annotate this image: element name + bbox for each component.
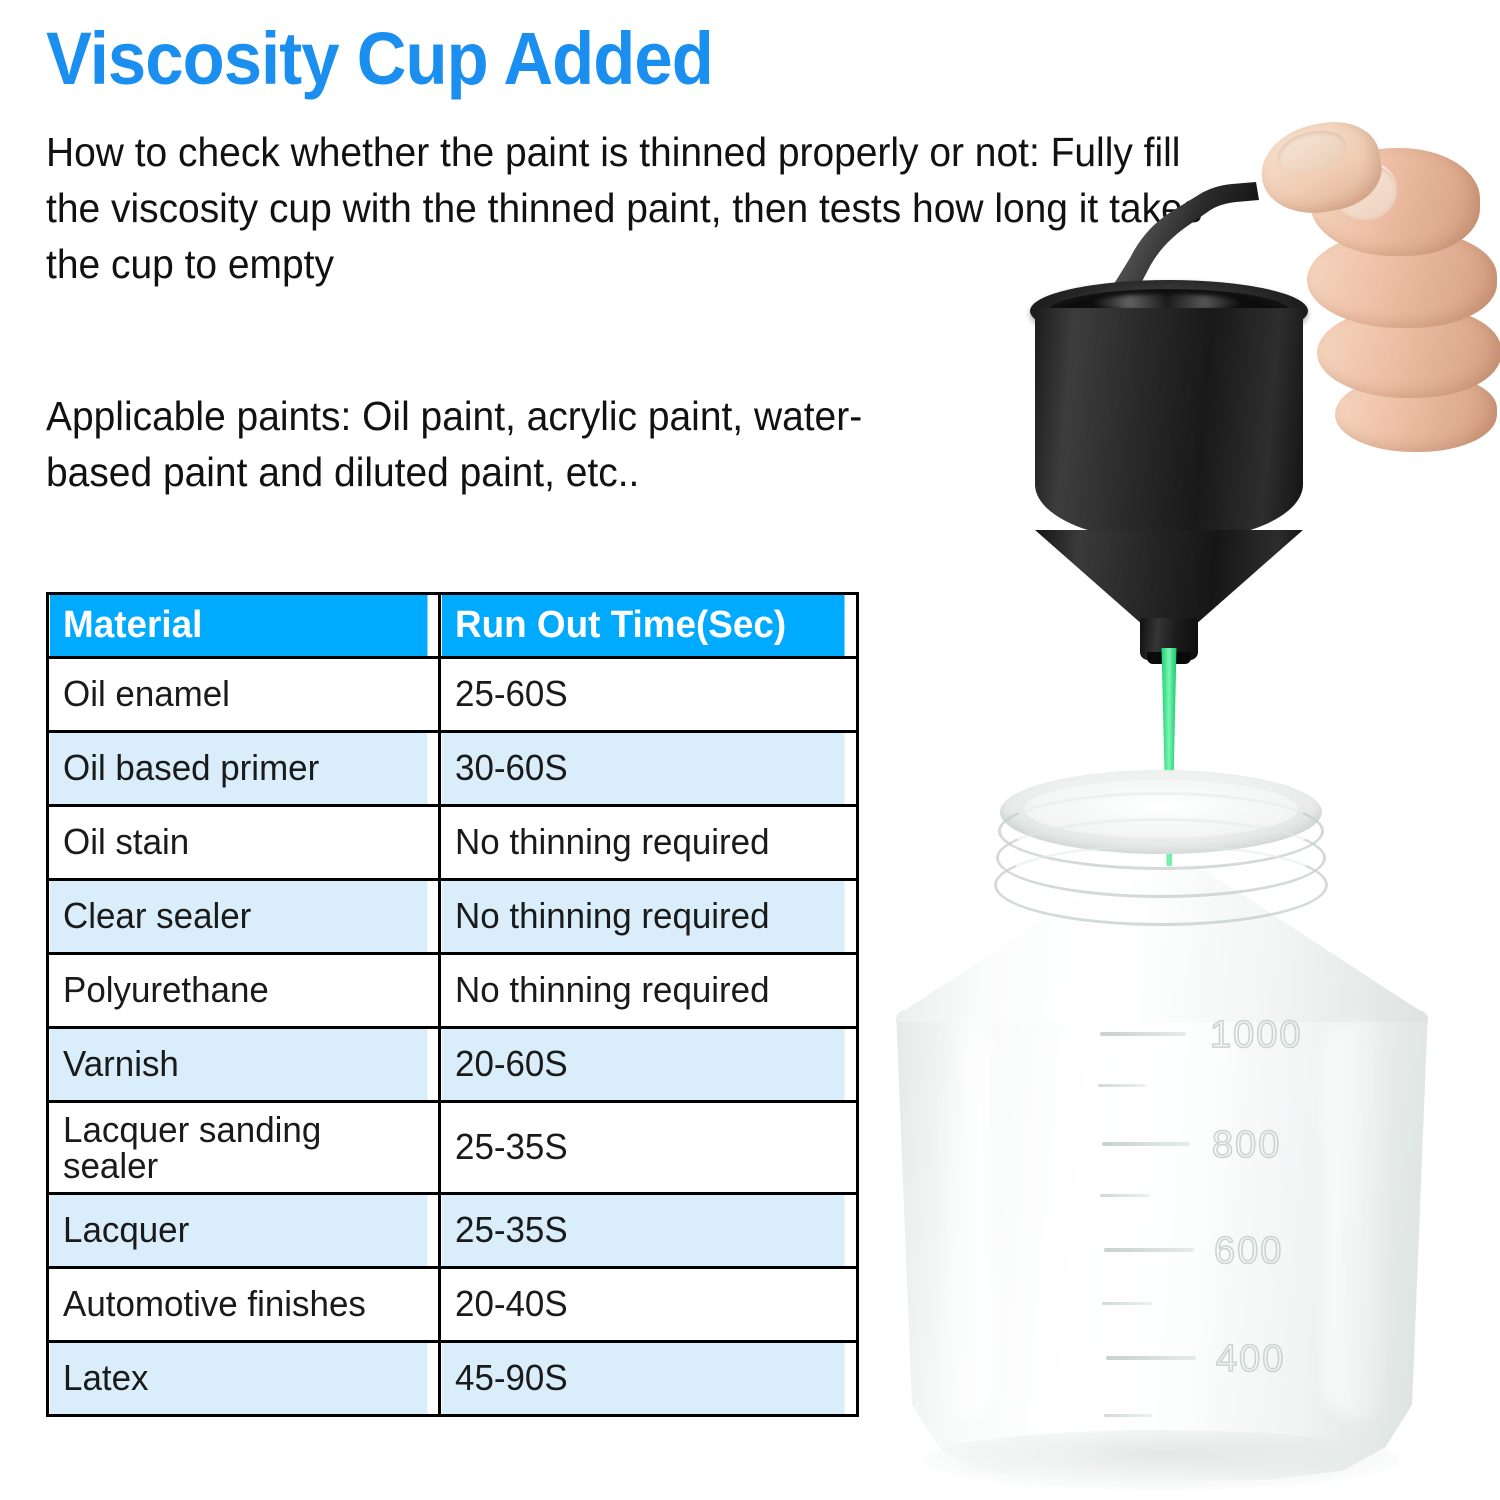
graduation-label-600: 600 [1214, 1230, 1283, 1273]
cell-run-out-time: No thinning required [440, 806, 845, 880]
run-out-time-table: Material Run Out Time(Sec) Oil enamel 25… [46, 592, 859, 1417]
cell-run-out-time: 20-60S [440, 1028, 845, 1102]
cell-material: Polyurethane [48, 954, 428, 1028]
table-row: Lacquer 25-35S [48, 1194, 858, 1268]
graduation-tick-400 [1106, 1356, 1196, 1360]
description-paragraph-2: Applicable paints: Oil paint, acrylic pa… [46, 388, 901, 500]
graduation-tick-minor [1102, 1302, 1152, 1305]
table-row: Latex 45-90S [48, 1342, 858, 1416]
cell-run-out-time: 45-90S [440, 1342, 845, 1416]
graduation-label-800: 800 [1212, 1124, 1281, 1167]
cell-material: Automotive finishes [48, 1268, 428, 1342]
measuring-cup: 1000 800 600 400 [872, 770, 1492, 1500]
cup-body [1035, 308, 1303, 540]
table-row: Varnish 20-60S [48, 1028, 858, 1102]
table-row: Lacquer sanding sealer 25-35S [48, 1102, 858, 1194]
cell-material: Lacquer [48, 1194, 428, 1268]
graduation-tick-1000 [1100, 1032, 1186, 1036]
cell-material: Oil enamel [48, 658, 428, 732]
cell-run-out-time: 25-35S [440, 1102, 845, 1194]
cell-run-out-time: 30-60S [440, 732, 845, 806]
viscosity-cup [1030, 280, 1330, 680]
graduation-tick-minor [1098, 1084, 1146, 1087]
cell-run-out-time: No thinning required [440, 880, 845, 954]
cell-material: Oil stain [48, 806, 428, 880]
cell-run-out-time: 25-35S [440, 1194, 845, 1268]
cup-highlight-left [932, 1020, 994, 1420]
cell-run-out-time: No thinning required [440, 954, 845, 1028]
cup-highlight-right [1324, 1020, 1394, 1420]
cup-cone [1035, 530, 1303, 622]
graduation-label-400: 400 [1216, 1338, 1285, 1381]
column-header-material: Material [48, 594, 428, 658]
infographic-page: Viscosity Cup Added How to check whether… [0, 0, 1500, 1500]
table-row: Oil stain No thinning required [48, 806, 858, 880]
cell-material: Lacquer sanding sealer [48, 1102, 428, 1194]
page-title: Viscosity Cup Added [46, 22, 713, 96]
cell-run-out-time: 20-40S [440, 1268, 845, 1342]
graduation-label-1000: 1000 [1210, 1014, 1303, 1057]
cell-material: Varnish [48, 1028, 428, 1102]
cell-material: Clear sealer [48, 880, 428, 954]
table-header-row: Material Run Out Time(Sec) [48, 594, 858, 658]
column-header-run-out-time: Run Out Time(Sec) [440, 594, 845, 658]
product-photo: 1000 800 600 400 [860, 0, 1500, 1500]
cell-material: Latex [48, 1342, 428, 1416]
table-row: Polyurethane No thinning required [48, 954, 858, 1028]
graduation-tick-600 [1104, 1248, 1194, 1252]
graduation-tick-minor [1100, 1194, 1150, 1197]
cell-run-out-time: 25-60S [440, 658, 845, 732]
table-row: Clear sealer No thinning required [48, 880, 858, 954]
table-row: Oil enamel 25-60S [48, 658, 858, 732]
table-row: Oil based primer 30-60S [48, 732, 858, 806]
cup-base-shading [924, 1430, 1400, 1490]
cell-material: Oil based primer [48, 732, 428, 806]
neck-thread-ring [994, 844, 1328, 926]
table-row: Automotive finishes 20-40S [48, 1268, 858, 1342]
graduation-tick-800 [1102, 1142, 1190, 1146]
graduation-tick-minor [1104, 1414, 1152, 1417]
